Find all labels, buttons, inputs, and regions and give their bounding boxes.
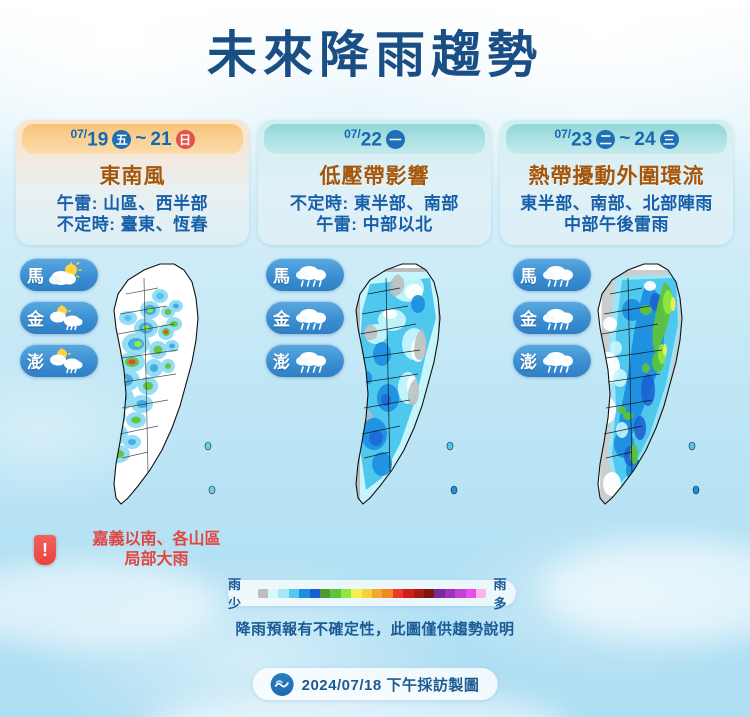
panel-headline: 熱帶擾動外圍環流 <box>508 160 725 190</box>
date-end: 21 <box>150 130 171 149</box>
island-label: 金 <box>273 305 290 330</box>
legend-swatch <box>393 589 403 598</box>
legend-swatch <box>278 589 288 598</box>
panel-line-2: 不定時: 臺東、恆春 <box>24 215 241 236</box>
legend-swatch <box>434 589 444 598</box>
island-badge-matsu: 馬 <box>20 258 98 291</box>
cloud-rain-icon <box>540 262 576 288</box>
island-label: 金 <box>27 305 44 330</box>
date-prefix: 07/ <box>70 127 87 141</box>
forecast-panel-2: 07/22 一 低壓帶影響 不定時: 東半部、南部 午雷: 中部以北 <box>258 120 491 245</box>
cloud-rain-icon <box>293 348 329 374</box>
panel-line-1: 不定時: 東半部、南部 <box>266 194 483 215</box>
date-range-text: 07/19 <box>70 128 108 149</box>
stamp-text: 2024/07/18 下午採訪製圖 <box>302 674 480 695</box>
warning-line-1: 嘉義以南、各山區 <box>64 530 249 550</box>
legend-swatch <box>455 589 465 598</box>
island-label: 馬 <box>520 262 537 287</box>
alert-exclamation-icon: ! <box>34 535 56 565</box>
island-badges-1: 馬 金 <box>20 258 98 387</box>
legend-swatch <box>310 589 320 598</box>
infographic-root: 未來降雨趨勢 07/19 五 ~ 21 日 東南風 午雷: 山區、西半部 不定時… <box>0 0 750 717</box>
legend-swatch <box>372 589 382 598</box>
source-stamp: 2024/07/18 下午採訪製圖 <box>253 668 498 700</box>
date-range-text: 07/23 <box>554 128 592 149</box>
island-label: 馬 <box>27 262 44 287</box>
island-label: 金 <box>520 305 537 330</box>
disclaimer-note: 降雨預報有不確定性，此圖僅供趨勢說明 <box>0 618 750 639</box>
sun-cloud-icon <box>47 262 83 288</box>
legend-swatch <box>268 589 278 598</box>
weekday-badge-start: 一 <box>386 130 405 149</box>
panel-line-1: 午雷: 山區、西半部 <box>24 194 241 215</box>
rain-map-panel-3 <box>572 258 717 521</box>
weekday-badge-end: 三 <box>660 130 679 149</box>
island-label: 澎 <box>273 348 290 373</box>
legend-swatch <box>341 589 351 598</box>
exclamation-glyph: ! <box>42 541 48 559</box>
rain-map-panel-1 <box>88 258 233 521</box>
legend-swatch <box>289 589 299 598</box>
legend-swatch <box>445 589 455 598</box>
rain-legend: 雨少 雨多 <box>228 580 516 606</box>
date-end: 24 <box>634 130 655 149</box>
legend-low-label: 雨少 <box>228 574 251 612</box>
warning-box: ! 嘉義以南、各山區 局部大雨 <box>34 530 249 570</box>
legend-swatch <box>382 589 392 598</box>
cloud-rain-icon <box>540 305 576 331</box>
legend-swatch <box>330 589 340 598</box>
date-start: 22 <box>361 130 382 151</box>
legend-colorbar <box>258 589 487 598</box>
warning-line-2: 局部大雨 <box>64 550 249 570</box>
date-pill: 07/23 二 ~ 24 三 <box>506 124 727 154</box>
weekday-badge-end: 日 <box>176 130 195 149</box>
cloud-rain-icon <box>540 348 576 374</box>
island-label: 澎 <box>520 348 537 373</box>
range-separator: ~ <box>135 128 146 150</box>
date-pill: 07/22 一 <box>264 124 485 154</box>
date-pill: 07/19 五 ~ 21 日 <box>22 124 243 154</box>
date-start: 19 <box>87 130 108 151</box>
panel-line-1: 東半部、南部、北部陣雨 <box>508 194 725 215</box>
panel-headline: 東南風 <box>24 160 241 190</box>
weekday-badge-start: 二 <box>596 130 615 149</box>
date-prefix: 07/ <box>344 127 361 141</box>
legend-swatch <box>320 589 330 598</box>
legend-swatch <box>403 589 413 598</box>
legend-swatch <box>299 589 309 598</box>
legend-high-label: 雨多 <box>493 574 516 612</box>
sun-cloud-rain-icon <box>47 305 83 331</box>
island-label: 澎 <box>27 348 44 373</box>
island-badge-kinmen: 金 <box>20 301 98 334</box>
legend-swatch <box>258 589 268 598</box>
island-badge-penghu: 澎 <box>20 344 98 377</box>
panel-headline: 低壓帶影響 <box>266 160 483 190</box>
rain-map-panel-2 <box>330 258 475 521</box>
legend-swatch <box>362 589 372 598</box>
forecast-panel-3: 07/23 二 ~ 24 三 熱帶擾動外圍環流 東半部、南部、北部陣雨 中部午後… <box>500 120 733 245</box>
sun-cloud-rain-icon <box>47 348 83 374</box>
legend-swatch <box>414 589 424 598</box>
cloud-rain-icon <box>293 262 329 288</box>
panel-card: 07/19 五 ~ 21 日 東南風 午雷: 山區、西半部 不定時: 臺東、恆春 <box>16 120 249 245</box>
legend-swatch <box>466 589 476 598</box>
panel-card: 07/22 一 低壓帶影響 不定時: 東半部、南部 午雷: 中部以北 <box>258 120 491 245</box>
panel-line-2: 午雷: 中部以北 <box>266 215 483 236</box>
legend-swatch <box>351 589 361 598</box>
weekday-badge-start: 五 <box>112 130 131 149</box>
warning-text: 嘉義以南、各山區 局部大雨 <box>64 530 249 570</box>
island-label: 馬 <box>273 262 290 287</box>
panel-line-2: 中部午後雷雨 <box>508 215 725 236</box>
date-prefix: 07/ <box>554 127 571 141</box>
legend-swatch <box>476 589 486 598</box>
forecast-panel-1: 07/19 五 ~ 21 日 東南風 午雷: 山區、西半部 不定時: 臺東、恆春 <box>16 120 249 245</box>
range-separator: ~ <box>619 128 630 150</box>
page-title: 未來降雨趨勢 <box>0 30 750 80</box>
date-start: 23 <box>571 130 592 151</box>
panel-card: 07/23 二 ~ 24 三 熱帶擾動外圍環流 東半部、南部、北部陣雨 中部午後… <box>500 120 733 245</box>
cwa-wave-logo-icon <box>271 673 294 696</box>
cloud-rain-icon <box>293 305 329 331</box>
date-range-text: 07/22 <box>344 128 382 149</box>
legend-swatch <box>424 589 434 598</box>
